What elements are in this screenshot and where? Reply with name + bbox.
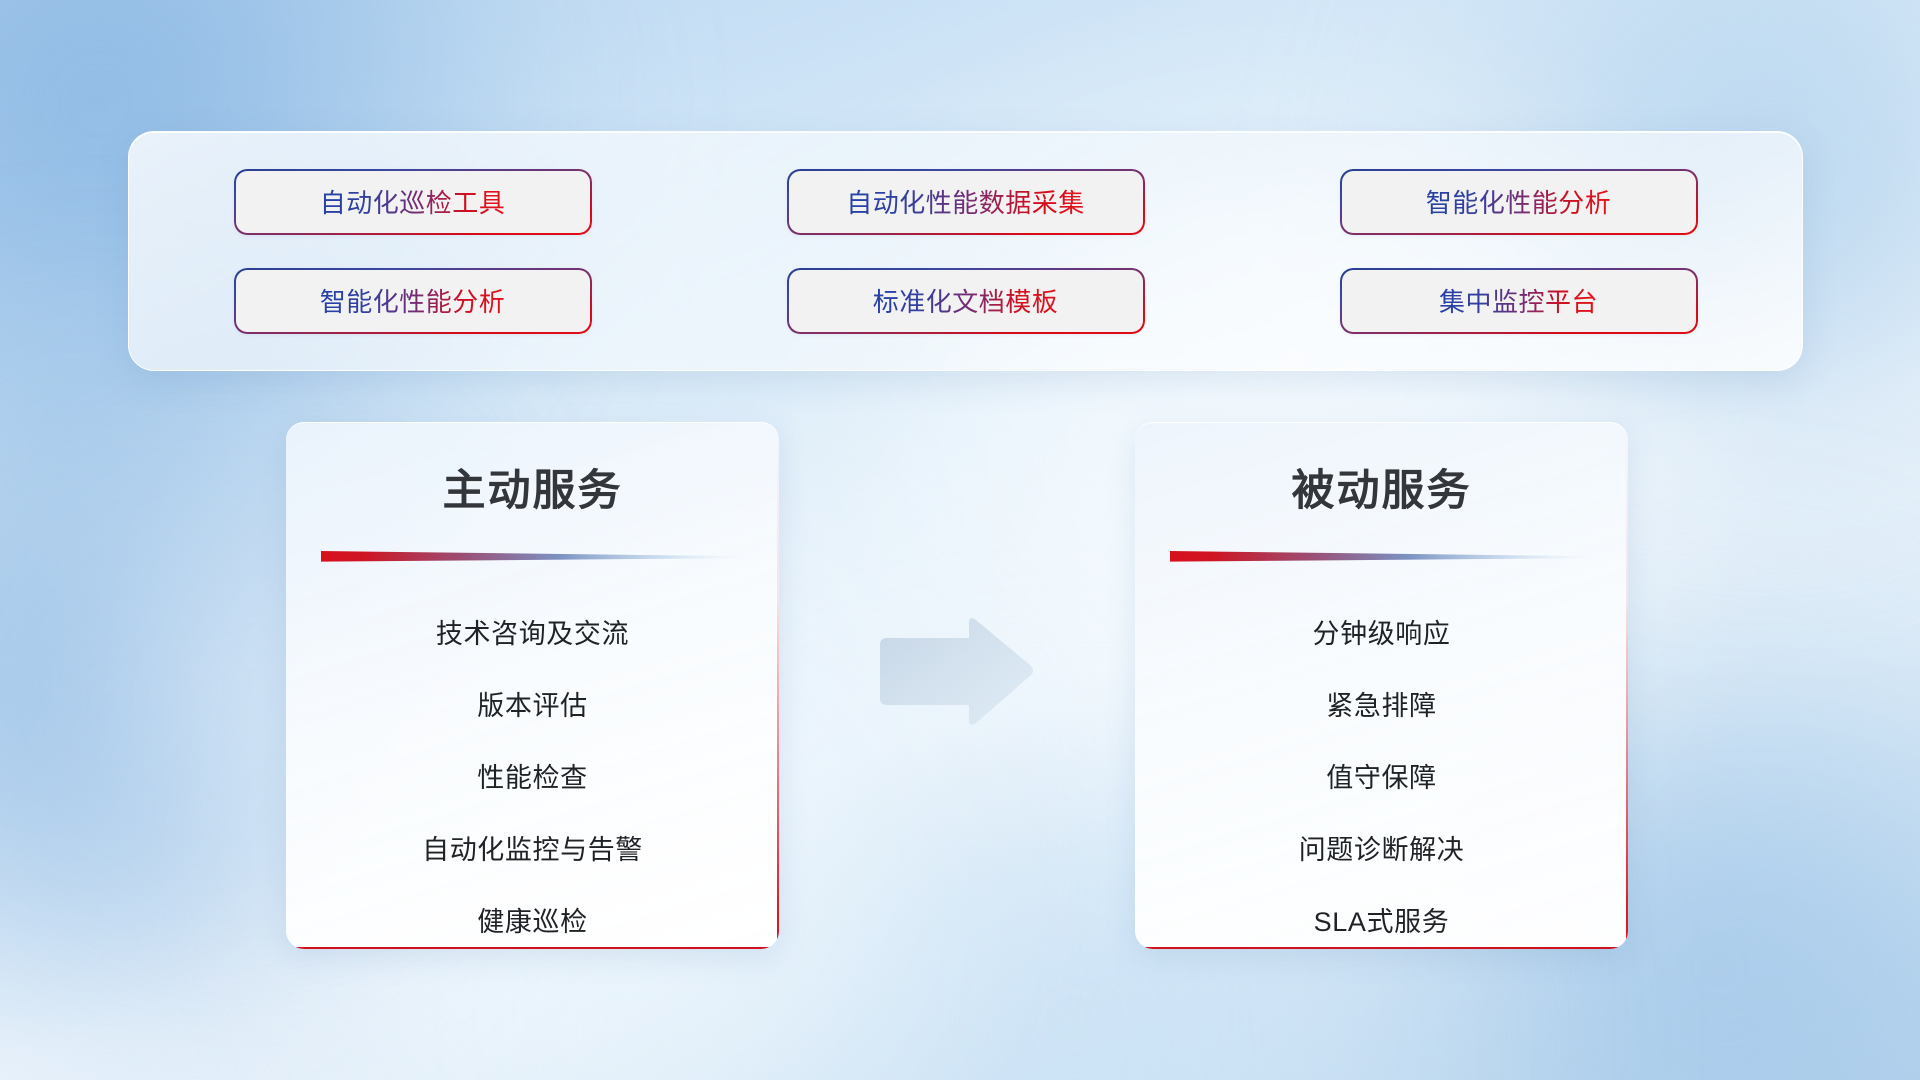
title-divider-wedge — [321, 551, 745, 562]
capability-pill-6[interactable]: 集中监控平台 — [1340, 268, 1698, 334]
capability-pill-label: 自动化巡检工具 — [320, 183, 506, 220]
flow-arrow-right-icon — [872, 612, 1038, 732]
capability-pill-3[interactable]: 智能化性能分析 — [1340, 169, 1698, 235]
list-item[interactable]: 问题诊断解决 — [1135, 814, 1628, 886]
list-item[interactable]: 自动化监控与告警 — [286, 814, 779, 886]
capability-pill-grid: 自动化巡检工具 自动化性能数据采集 智能化性能分析 智能化性能分析 标准化文档模… — [234, 169, 1698, 334]
capability-pill-label: 智能化性能分析 — [320, 282, 506, 319]
capability-pill-label: 集中监控平台 — [1439, 282, 1598, 319]
capability-panel: 自动化巡检工具 自动化性能数据采集 智能化性能分析 智能化性能分析 标准化文档模… — [128, 131, 1803, 371]
capability-pill-1[interactable]: 自动化巡检工具 — [234, 169, 592, 235]
proactive-service-card: 主动服务 技术咨询及交流 版本评估 性能检查 自动化监控与告警 健康巡检 — [286, 422, 779, 949]
capability-pill-4[interactable]: 智能化性能分析 — [234, 268, 592, 334]
capability-pill-label: 标准化文档模板 — [873, 282, 1059, 319]
capability-pill-2[interactable]: 自动化性能数据采集 — [787, 169, 1145, 235]
list-item[interactable]: 健康巡检 — [286, 886, 779, 949]
list-item[interactable]: 技术咨询及交流 — [286, 598, 779, 670]
reactive-card-title: 被动服务 — [1135, 456, 1628, 518]
proactive-card-title: 主动服务 — [286, 456, 779, 518]
capability-pill-label: 自动化性能数据采集 — [846, 183, 1085, 220]
list-item[interactable]: SLA式服务 — [1135, 886, 1628, 949]
list-item[interactable]: 紧急排障 — [1135, 670, 1628, 742]
reactive-service-card: 被动服务 分钟级响应 紧急排障 值守保障 问题诊断解决 SLA式服务 — [1135, 422, 1628, 949]
list-item[interactable]: 值守保障 — [1135, 742, 1628, 814]
title-divider-wedge — [1170, 551, 1594, 562]
proactive-service-list: 技术咨询及交流 版本评估 性能检查 自动化监控与告警 健康巡检 — [286, 598, 779, 949]
reactive-service-list: 分钟级响应 紧急排障 值守保障 问题诊断解决 SLA式服务 — [1135, 598, 1628, 949]
capability-pill-label: 智能化性能分析 — [1426, 183, 1612, 220]
list-item[interactable]: 分钟级响应 — [1135, 598, 1628, 670]
capability-pill-5[interactable]: 标准化文档模板 — [787, 268, 1145, 334]
list-item[interactable]: 版本评估 — [286, 670, 779, 742]
list-item[interactable]: 性能检查 — [286, 742, 779, 814]
